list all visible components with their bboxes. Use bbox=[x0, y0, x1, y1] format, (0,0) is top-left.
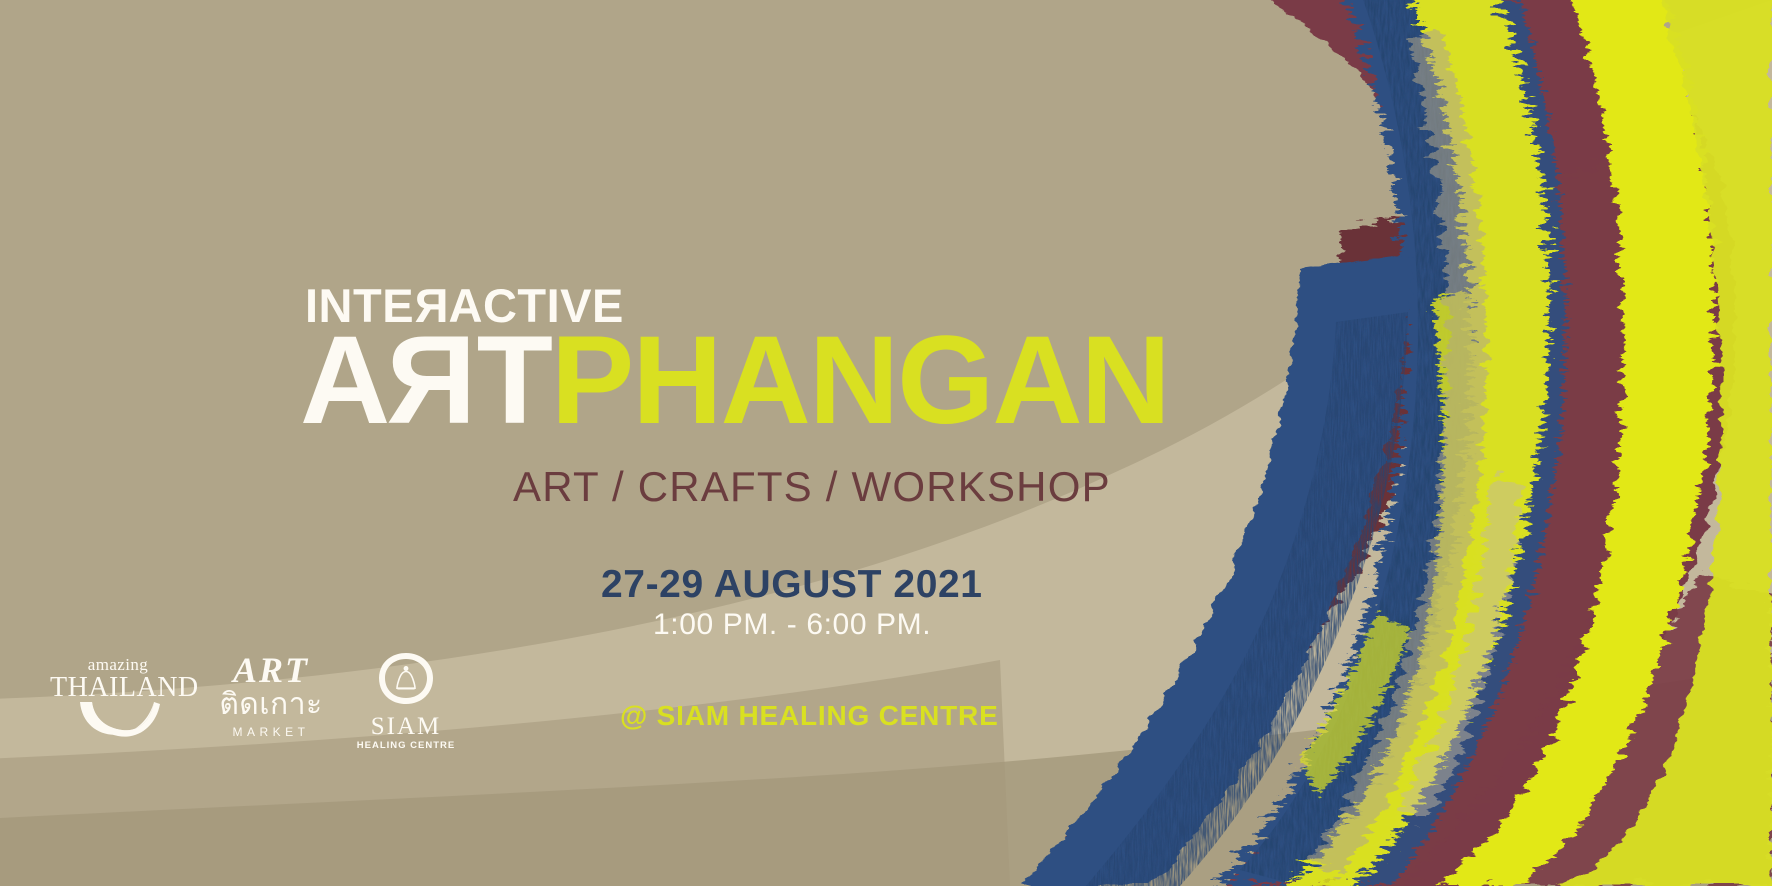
logo-amazing-text: amazing bbox=[50, 656, 186, 673]
enso-circle-meditation-icon bbox=[352, 650, 460, 713]
logo-thailand-text: THAILAND bbox=[50, 674, 186, 702]
event-poster: INTERACTIVE ART PHANGAN ART / CRAFTS / W… bbox=[0, 0, 1772, 886]
logo-amazing-thailand: amazing THAILAND bbox=[50, 656, 186, 745]
title-art-pre: A bbox=[300, 311, 388, 450]
main-title: ART PHANGAN bbox=[300, 318, 1169, 443]
subtitle: ART / CRAFTS / WORKSHOP bbox=[513, 463, 1111, 511]
logo-siam-text: SIAM bbox=[352, 714, 460, 739]
logo-art-text: ART bbox=[215, 652, 327, 688]
logo-market-text: MARKET bbox=[215, 726, 327, 738]
title-word-art: ART bbox=[300, 318, 551, 443]
sponsor-logo-row: amazing THAILAND ART ติดเกาะ MARKET bbox=[0, 648, 520, 758]
logo-healing-centre-text: HEALING CENTRE bbox=[352, 741, 460, 751]
title-art-post: T bbox=[477, 311, 551, 450]
logo-thai-text: ติดเกาะ bbox=[215, 688, 327, 723]
logo-siam-healing-centre: SIAM HEALING CENTRE bbox=[352, 650, 460, 751]
event-time: 1:00 PM. - 6:00 PM. bbox=[653, 608, 931, 642]
title-word-phangan: PHANGAN bbox=[551, 318, 1169, 443]
event-date: 27-29 AUGUST 2021 bbox=[601, 563, 983, 607]
title-flipped-r: R bbox=[388, 318, 476, 443]
logo-art-market: ART ติดเกาะ MARKET bbox=[215, 652, 327, 738]
smile-swoosh-icon bbox=[50, 700, 186, 745]
event-venue: @ SIAM HEALING CENTRE bbox=[620, 700, 999, 732]
